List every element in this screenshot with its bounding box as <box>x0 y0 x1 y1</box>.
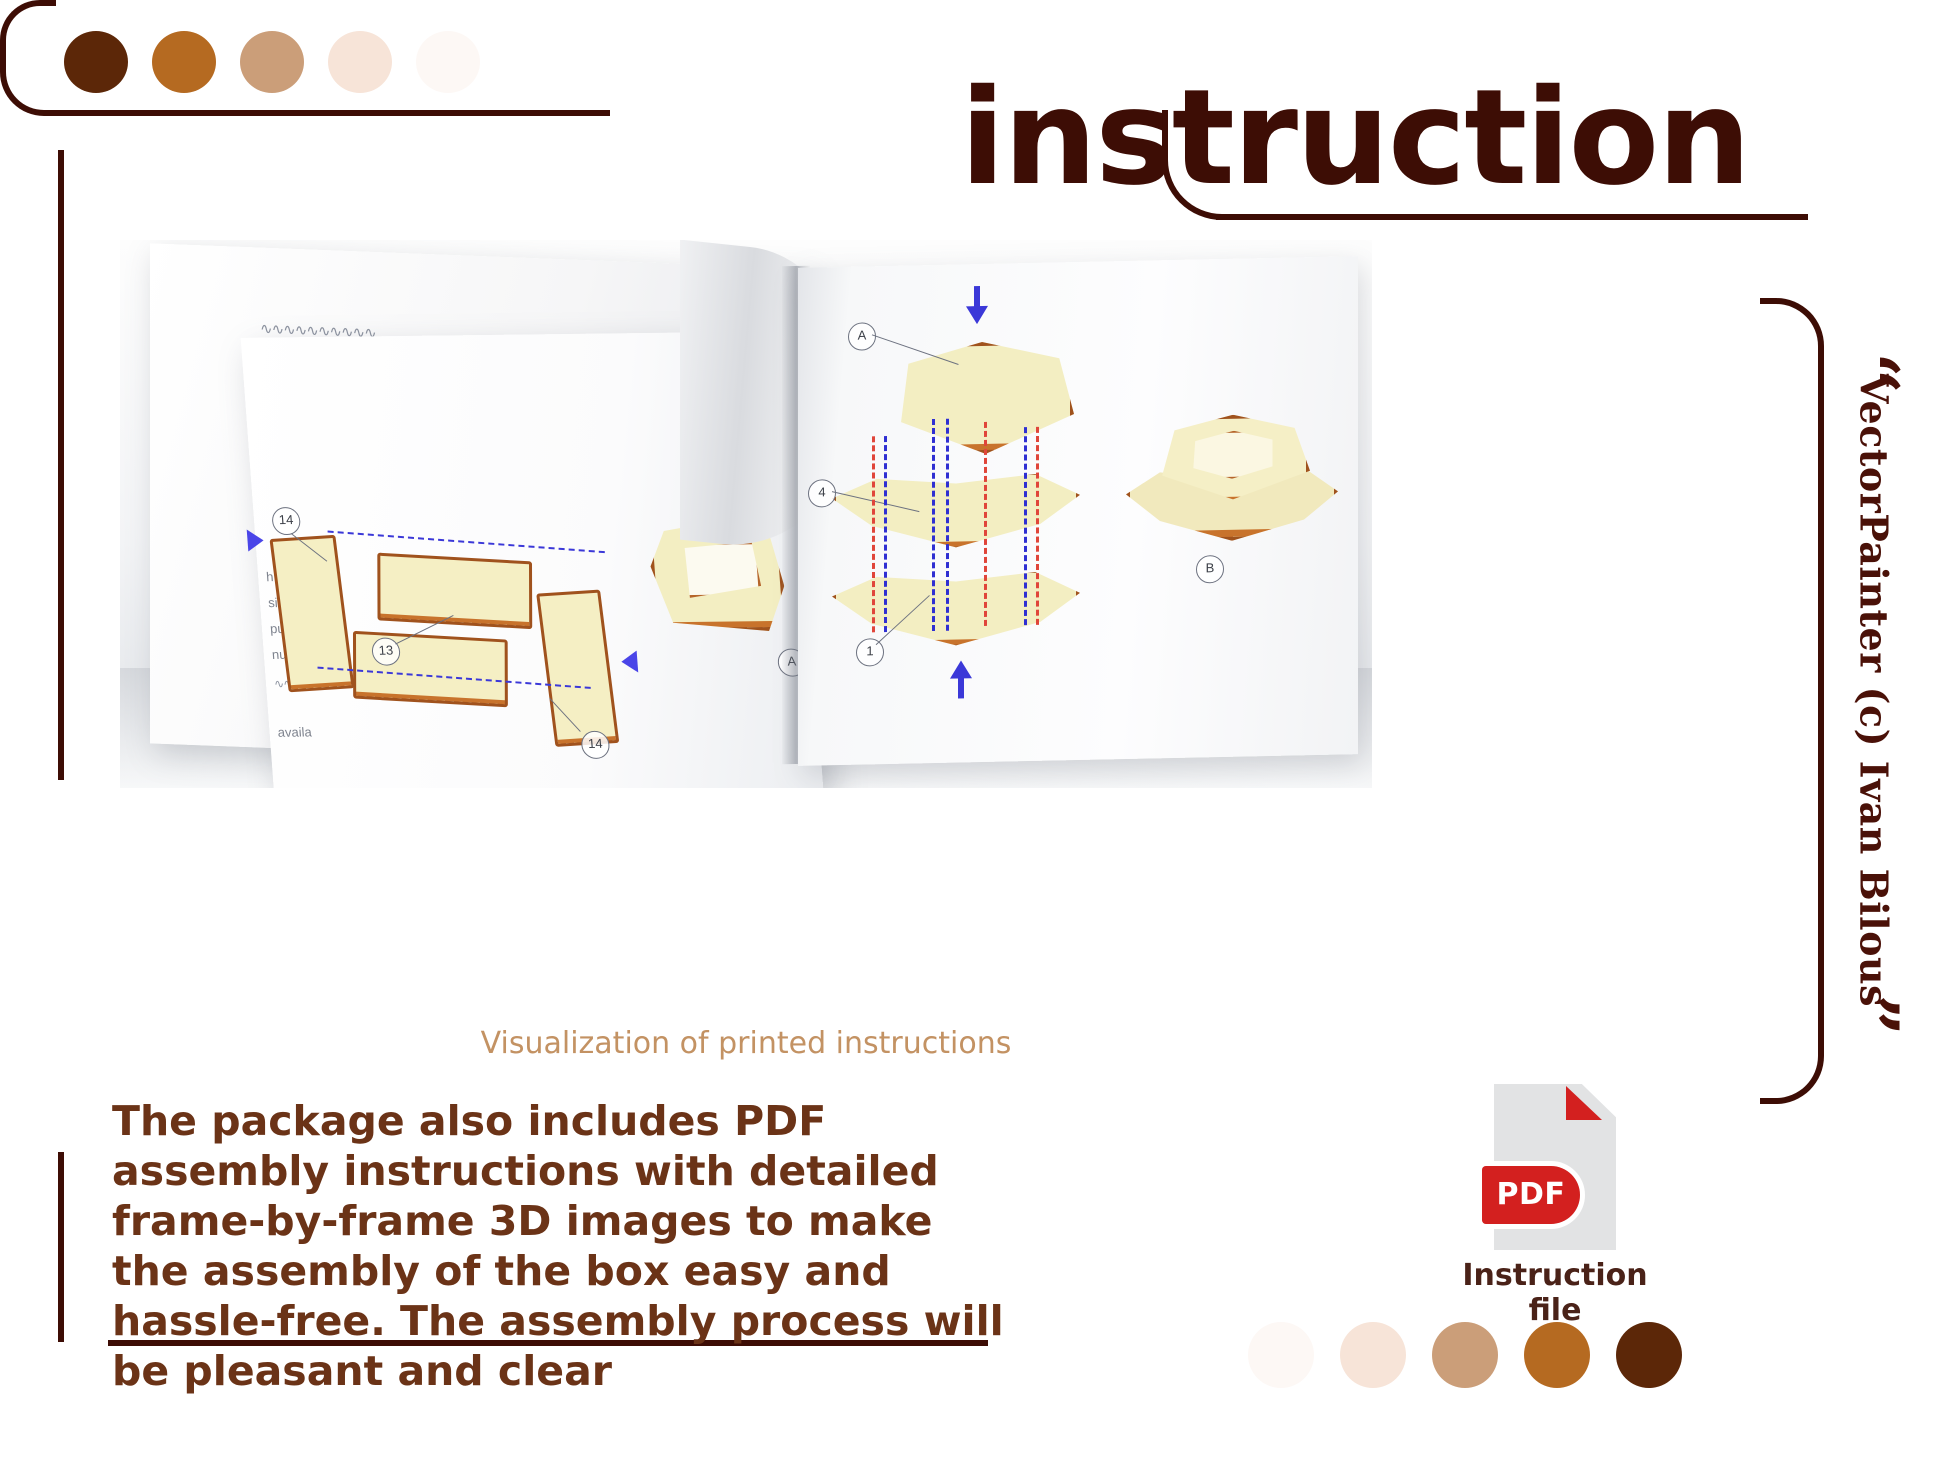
guide-dash-red-3 <box>1036 427 1039 625</box>
guide-dash-red-2 <box>984 422 987 626</box>
swatch-dark-brown <box>64 31 128 93</box>
guide-dash-blue-3 <box>946 419 949 631</box>
frame-right-bottom-corner <box>1760 1040 1824 1104</box>
guide-dash-blue-2 <box>932 419 935 631</box>
arrow-left-icon <box>621 651 639 673</box>
quote-close-icon: ” <box>1847 983 1897 1047</box>
main-paragraph: The package also includes PDF assembly i… <box>112 1096 1012 1396</box>
arrow-up-stem <box>958 676 964 698</box>
pdf-chip-label: PDF <box>1482 1166 1580 1224</box>
frame-left-vertical-line <box>58 150 64 780</box>
frame-bottom-left-corner <box>0 56 60 116</box>
swatch-dark-brown <box>1616 1322 1682 1388</box>
part-panel-14-right <box>536 590 619 747</box>
swatch-copper <box>1524 1322 1590 1388</box>
frame-right-top-corner <box>1760 298 1824 362</box>
swatch-off-white <box>1248 1322 1314 1388</box>
mockup-caption: Visualization of printed instructions <box>120 1026 1372 1061</box>
frame-left-vertical-line-lower <box>58 1152 64 1342</box>
alignment-dash-top <box>328 531 605 554</box>
pdf-file-icon: PDF <box>1494 1084 1616 1250</box>
frame-right-vertical-line <box>1818 350 1824 1050</box>
color-palette-bottom <box>1248 1322 1682 1388</box>
pdf-badge[interactable]: PDF Instruction file <box>1440 1084 1670 1328</box>
swatch-cream <box>1340 1322 1406 1388</box>
swatch-cream <box>328 31 392 93</box>
arrow-down-stem <box>974 286 980 310</box>
swatch-tan <box>240 31 304 93</box>
swatch-off-white <box>416 31 480 93</box>
swatch-copper <box>152 31 216 93</box>
guide-dash-blue-1 <box>884 436 887 632</box>
arrow-right-icon <box>247 529 265 551</box>
left-page-text-line-5: availa <box>277 724 312 739</box>
book-mockup-image: ∿∿∿∿∿∿∿∿∿∿ h si pu nur ∿∿ availa 14 13 1… <box>120 240 1372 788</box>
part-lid <box>890 340 1074 456</box>
color-palette-top <box>64 31 480 93</box>
assembled-box-b <box>1122 407 1334 543</box>
frame-top-left-corner <box>0 0 56 56</box>
credit-block: “ VectorPainter (c) Ivan Bilous ” <box>1838 330 1908 1050</box>
callout-a-right-page: A <box>848 322 876 351</box>
page-title: instruction <box>960 72 1749 204</box>
guide-dash-red-1 <box>872 436 875 632</box>
callout-14-a: 14 <box>271 507 301 535</box>
callout-1: 1 <box>856 638 884 667</box>
swatch-tan <box>1432 1322 1498 1388</box>
frame-top-left-line <box>58 110 610 116</box>
part-shelf-4 <box>832 470 1080 553</box>
guide-dash-blue-4 <box>1024 427 1027 625</box>
credit-text: VectorPainter (c) Ivan Bilous <box>1852 371 1897 1011</box>
pdf-badge-label: Instruction file <box>1440 1258 1670 1328</box>
callout-label-b: B <box>1196 555 1224 584</box>
book-page-right: A 4 1 B <box>798 256 1358 766</box>
part-panel-13-top <box>377 553 532 630</box>
